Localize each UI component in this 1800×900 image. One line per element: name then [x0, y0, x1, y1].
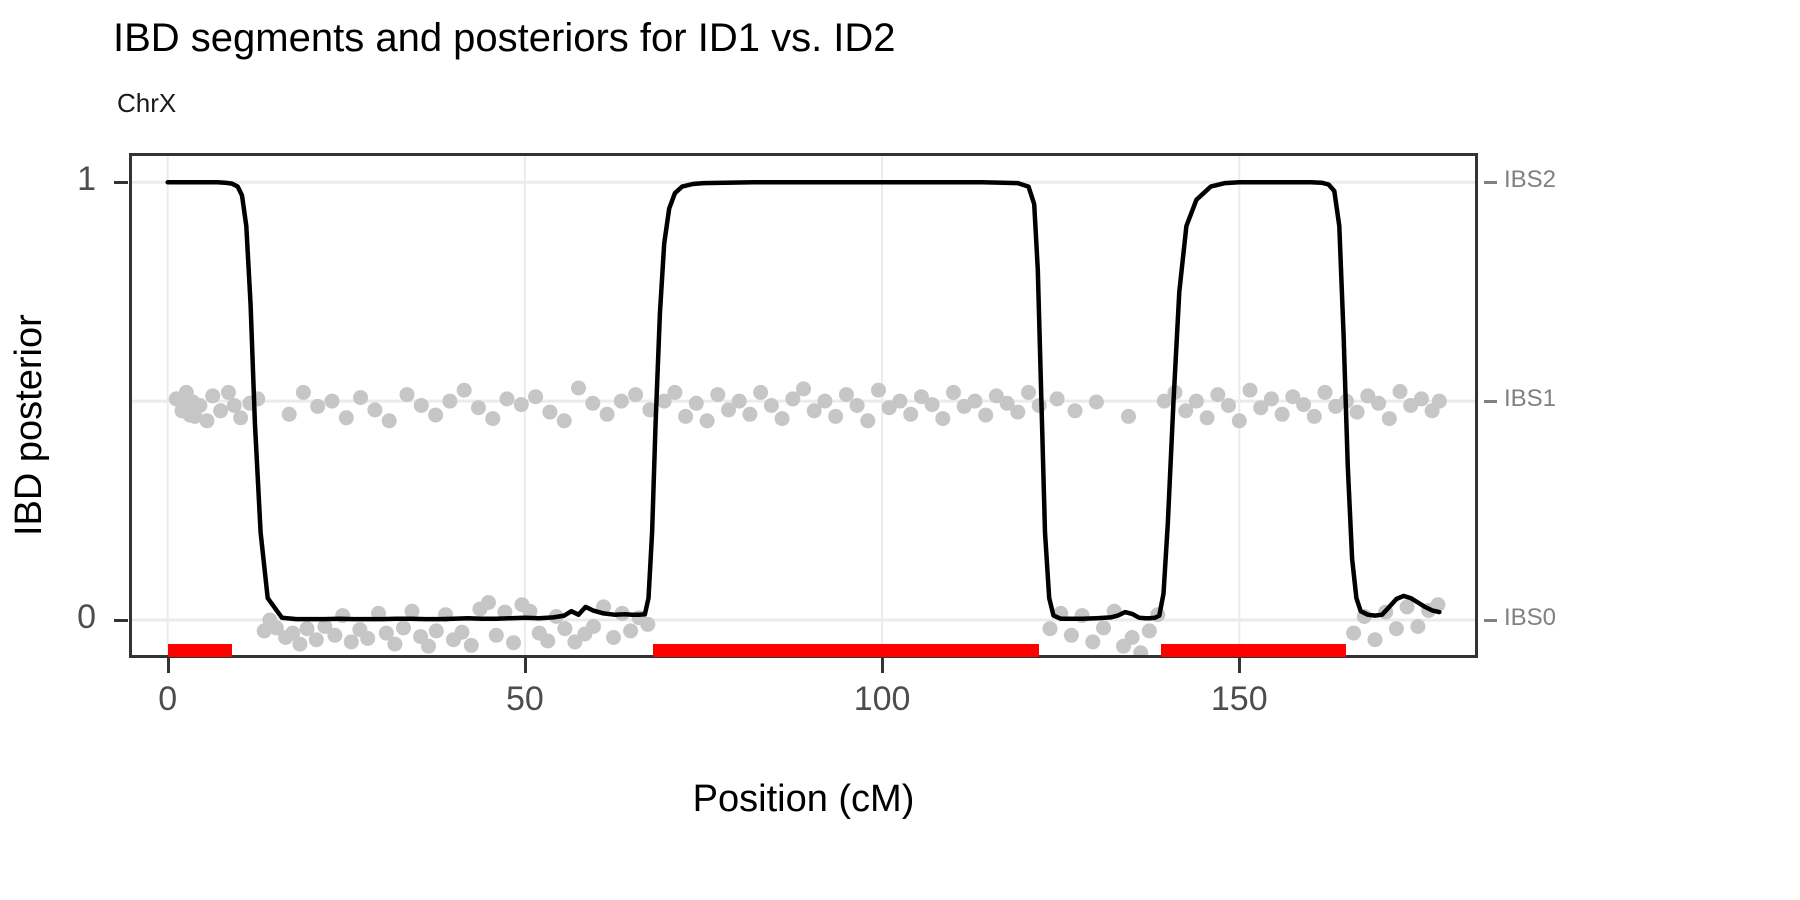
plot-panel [129, 153, 1478, 658]
ibs-point [353, 390, 368, 405]
ibs-point [871, 383, 886, 398]
ibs-point [1243, 383, 1258, 398]
ibs-point [310, 399, 325, 414]
ibs-point [1096, 620, 1111, 635]
ibs-point [528, 389, 543, 404]
ibs-point [1200, 410, 1215, 425]
ibs-point [935, 411, 950, 426]
ibs-point [192, 398, 207, 413]
ibs-point [1142, 623, 1157, 638]
ibs-point [1318, 385, 1333, 400]
ibs-point [1410, 619, 1425, 634]
ibs-point [233, 410, 248, 425]
chart-title: IBD segments and posteriors for ID1 vs. … [113, 16, 896, 61]
x-axis-tick-mark [167, 658, 170, 673]
right-axis-label-IBS1: IBS1 [1504, 385, 1556, 413]
ibs-point [742, 407, 757, 422]
ibs-point [400, 387, 415, 402]
ibs-point [850, 398, 865, 413]
right-axis-tick-mark [1484, 619, 1497, 622]
ibs-point [500, 391, 515, 406]
ibs-point [200, 413, 215, 428]
ibs-point [205, 388, 220, 403]
ibs-point [700, 413, 715, 428]
ibs-point [1382, 411, 1397, 426]
ibs-point [557, 621, 572, 636]
ibs-point [978, 408, 993, 423]
ibs-point [1393, 384, 1408, 399]
ibs-point [678, 409, 693, 424]
ibs-point [442, 394, 457, 409]
ibs-point [1389, 621, 1404, 636]
ibs-point [586, 619, 601, 634]
ibs-point [892, 394, 907, 409]
ibs-point [360, 631, 375, 646]
y-axis-tick-label-0: 0 [40, 598, 96, 637]
ibs-point [967, 394, 982, 409]
ibs-point [1210, 387, 1225, 402]
ibs-point [775, 411, 790, 426]
ibs-point [296, 385, 311, 400]
ibs-point [464, 638, 479, 653]
ibs-point [506, 635, 521, 650]
ibs-point [339, 410, 354, 425]
ibs-point [457, 383, 472, 398]
gridline-vertical [1238, 156, 1240, 655]
ibs-point [213, 403, 228, 418]
ibs-point [1432, 394, 1447, 409]
ibs-point [344, 634, 359, 649]
x-axis-tick-mark [1238, 658, 1241, 673]
x-axis-tick-mark [881, 658, 884, 673]
ibs-point [1350, 405, 1365, 420]
ibs-point [1121, 409, 1136, 424]
ibs-point [606, 630, 621, 645]
ibs-point [540, 634, 555, 649]
ibs-point [542, 405, 557, 420]
ibs-point [455, 625, 470, 640]
ibs-point [429, 623, 444, 638]
ibs-point [1346, 626, 1361, 641]
ibs-point [382, 413, 397, 428]
panel-strip-label: ChrX [117, 88, 176, 119]
ibs-point [282, 407, 297, 422]
ibd-segment-bar [168, 644, 232, 657]
ibs-point [471, 400, 486, 415]
ibs-point [839, 387, 854, 402]
x-axis-tick-label-150: 150 [1211, 680, 1268, 719]
x-axis-tick-mark [524, 658, 527, 673]
ibs-point [628, 387, 643, 402]
y-axis-tick-mark [114, 181, 128, 184]
ibs-point [485, 411, 500, 426]
ibs-point [689, 396, 704, 411]
ibs-point [732, 394, 747, 409]
ibs-point [1414, 391, 1429, 406]
y-axis-title: IBD posterior [8, 314, 51, 536]
ibs-point [309, 632, 324, 647]
ibs-point [571, 381, 586, 396]
right-axis-label-IBS0: IBS0 [1504, 604, 1556, 632]
ibd-segment-bar [1161, 644, 1347, 657]
ibs-point [1010, 405, 1025, 420]
ibs-point [1275, 407, 1290, 422]
ibs-point [514, 397, 529, 412]
ibs-point [557, 413, 572, 428]
ibs-point [640, 617, 655, 632]
ibs-point [828, 409, 843, 424]
ibs-point [1221, 398, 1236, 413]
ibs-point [414, 398, 429, 413]
ibs-point [1307, 409, 1322, 424]
ibs-point [860, 413, 875, 428]
ibs-point [396, 620, 411, 635]
y-axis-tick-label-1: 1 [40, 160, 96, 199]
gridline-vertical [167, 156, 169, 655]
y-axis-tick-mark [114, 619, 128, 622]
ibs-point [1368, 632, 1383, 647]
ibs-point [903, 407, 918, 422]
ibs-point [585, 396, 600, 411]
x-axis-tick-label-0: 0 [158, 680, 177, 719]
ibs-point [1371, 396, 1386, 411]
ibs-point [387, 637, 402, 652]
ibs-point [614, 394, 629, 409]
ibs-point [925, 397, 940, 412]
ibs-point [1089, 395, 1104, 410]
ibs-point [1133, 645, 1148, 655]
x-axis-tick-label-50: 50 [506, 680, 544, 719]
ibs-point [489, 628, 504, 643]
ibs-point [1043, 621, 1058, 636]
plot-layers [132, 156, 1475, 655]
ibs-point [221, 385, 236, 400]
ibs-point [753, 385, 768, 400]
ibs-point [623, 623, 638, 638]
ibs-point [325, 394, 340, 409]
ibs-point [1189, 394, 1204, 409]
right-axis-label-IBS2: IBS2 [1504, 166, 1556, 194]
ibs-point [1232, 413, 1247, 428]
ibs-point [796, 381, 811, 396]
ibs-point [946, 385, 961, 400]
ibs-point [1021, 385, 1036, 400]
ibs-point [481, 595, 496, 610]
ibs-point [421, 639, 436, 654]
ibs-point [1125, 630, 1140, 645]
ibs-point [710, 387, 725, 402]
ibd-segment-bar [653, 644, 1039, 657]
ibs-point [817, 394, 832, 409]
ibs-point [367, 402, 382, 417]
x-axis-tick-label-100: 100 [854, 680, 911, 719]
ibs-point [600, 407, 615, 422]
ibs-point [1085, 634, 1100, 649]
right-axis-tick-mark [1484, 181, 1497, 184]
ibs-point [428, 408, 443, 423]
ibs-point [292, 637, 307, 652]
ibs-point [1050, 391, 1065, 406]
ibs-point [667, 385, 682, 400]
ibs-point [327, 628, 342, 643]
x-axis-title: Position (cM) [693, 778, 915, 821]
ibs-point [764, 398, 779, 413]
chart-canvas: IBD segments and posteriors for ID1 vs. … [0, 0, 1800, 900]
ibs-point [1264, 391, 1279, 406]
ibs-point [1064, 628, 1079, 643]
ibs-point [1068, 403, 1083, 418]
right-axis-tick-mark [1484, 400, 1497, 403]
ibs-point [1296, 397, 1311, 412]
